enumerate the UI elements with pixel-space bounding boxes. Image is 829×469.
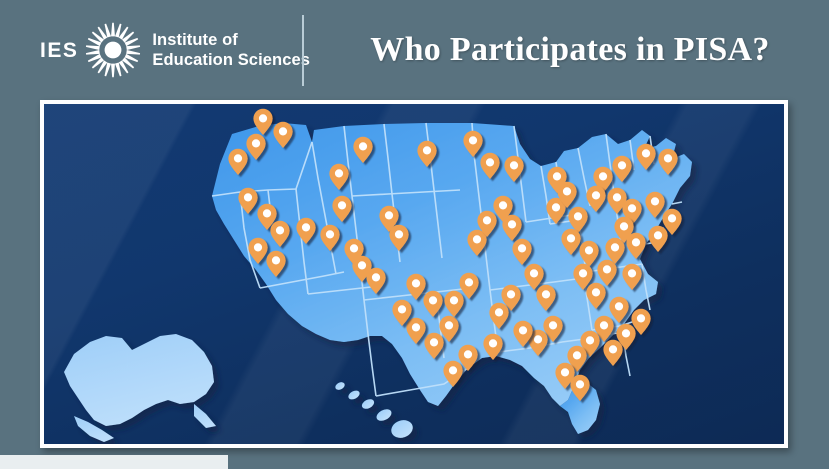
us-map[interactable] (44, 104, 784, 444)
ies-full-name: Institute of Education Sciences (152, 30, 310, 71)
map-panel (40, 100, 788, 448)
ies-logo: IES Institute of Education Sciences (40, 18, 310, 82)
us-landmass (212, 123, 692, 434)
page-title: Who Participates in PISA? (330, 0, 810, 100)
ies-name-line2: Education Sciences (152, 51, 310, 69)
ies-acronym: IES (40, 40, 78, 61)
alaska-inset (64, 334, 216, 442)
header-divider (302, 15, 304, 86)
sunburst-icon (84, 21, 142, 79)
map-pin (603, 340, 622, 366)
slide-root: IES Institute of Education Sciences Who … (0, 0, 829, 469)
bottom-accent-strip (0, 455, 228, 469)
ies-name-line1: Institute of (152, 31, 238, 49)
slide-header: IES Institute of Education Sciences Who … (0, 0, 829, 100)
